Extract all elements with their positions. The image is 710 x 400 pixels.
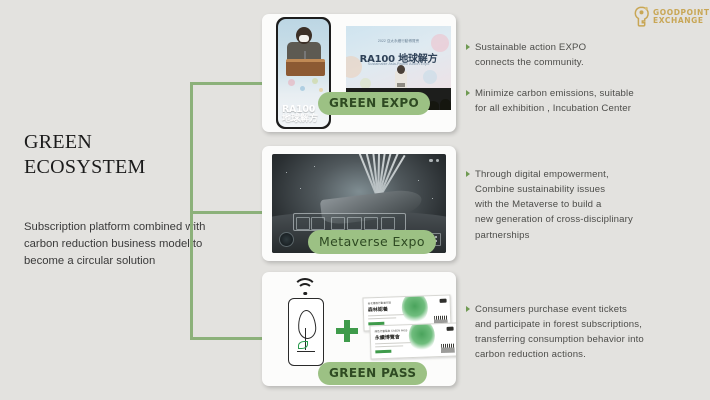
ticket-tree-graphic <box>401 294 428 324</box>
ticket2-name: 永續博覽會 <box>375 333 400 341</box>
bullet-text: connects the community. <box>475 55 584 70</box>
bullet-text: Consumers purchase event tickets <box>475 302 627 317</box>
bullet-text: Minimize carbon emissions, suitable <box>475 86 634 101</box>
plus-icon <box>336 320 358 342</box>
badge-metaverse-expo[interactable]: Metaverse Expo <box>308 230 436 254</box>
page-title: GREEN ECOSYSTEM <box>24 130 214 180</box>
bracket-branch-top <box>190 82 262 85</box>
phone-caption-line2: 地球解方 <box>282 111 318 124</box>
speaker-head <box>296 27 312 44</box>
ticket2-title: 綠色行動票券 GREEN PASS <box>375 328 408 333</box>
scene-status-dots <box>429 159 439 163</box>
bullet-column: Sustainable action EXPO connects the com… <box>466 0 698 400</box>
bullet-item: Sustainable action EXPO connects the com… <box>466 40 698 70</box>
bullet-text: Through digital empowerment, <box>475 167 609 182</box>
scene-orb-control <box>279 232 294 247</box>
wifi-icon <box>293 278 317 295</box>
bullet-text: partnerships <box>475 228 530 243</box>
banner-speaker <box>397 65 405 74</box>
ticket-tree-graphic <box>408 322 435 352</box>
bullet-marker-icon <box>466 171 470 177</box>
bullet-text: new generation of cross-disciplinary <box>475 212 633 227</box>
bullet-text: for all exhibition , Incubation Center <box>475 101 631 116</box>
tree-sprout-icon <box>295 310 317 354</box>
bullet-text: Combine sustainability issues <box>475 182 605 197</box>
bullet-marker-icon <box>466 306 470 312</box>
ticket1-badge <box>440 299 447 303</box>
bullet-marker-icon <box>466 44 470 50</box>
bullet-text: and participate in forest subscriptions, <box>475 317 642 332</box>
bullet-text: Sustainable action EXPO <box>475 40 586 55</box>
ground-line <box>297 351 315 352</box>
banner-sub-top: 2022 亞太永續行動博覽會 <box>346 39 451 44</box>
podium-shape <box>286 59 325 76</box>
slide-canvas: GOODPOINT EXCHANGE GREEN ECOSYSTEM Subsc… <box>0 0 710 400</box>
ticket1-name: 森林認養 <box>368 306 388 314</box>
bullet-item: Consumers purchase event tickets and par… <box>466 302 698 363</box>
bullet-item: Through digital empowerment, Combine sus… <box>466 167 698 243</box>
badge-green-expo[interactable]: GREEN EXPO <box>318 92 430 115</box>
badge-green-pass[interactable]: GREEN PASS <box>318 362 427 385</box>
tree-leaf-shape <box>297 309 317 339</box>
bracket-branch-bottom <box>190 337 262 340</box>
ticket-card-2: 綠色行動票券 GREEN PASS 永續博覽會 <box>369 322 456 359</box>
bullet-text: with the Metaverse to build a <box>475 197 601 212</box>
phone-mockup-pass <box>288 298 324 366</box>
bullet-marker-icon <box>466 90 470 96</box>
ticket2-barcode <box>441 344 454 353</box>
decor-dots <box>286 75 326 97</box>
bullet-item: Minimize carbon emissions, suitable for … <box>466 86 698 116</box>
ticket2-accent-bar <box>375 350 391 354</box>
sprout-shape <box>298 341 308 349</box>
face-mask-icon <box>299 35 309 42</box>
scene-hud-toolbar <box>293 213 406 231</box>
connector-bracket <box>190 70 270 360</box>
bullet-text: carbon reduction actions. <box>475 347 586 362</box>
bullet-text: transferring consumption behavior into <box>475 332 644 347</box>
bracket-branch-middle <box>190 211 262 214</box>
ticket2-badge <box>447 327 454 331</box>
